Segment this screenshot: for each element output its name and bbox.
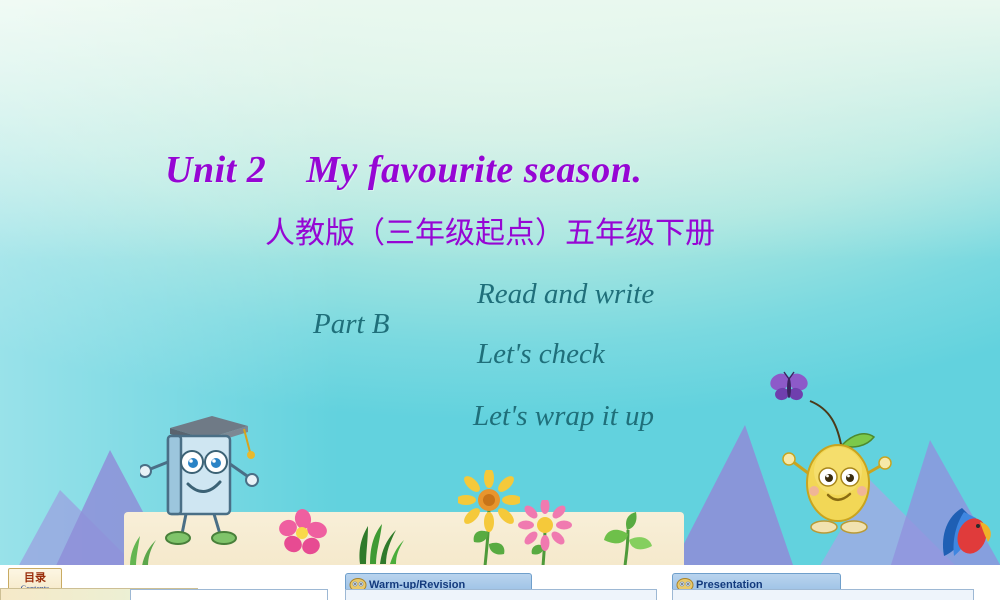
parrot-icon xyxy=(928,500,996,566)
sprout-icon xyxy=(598,512,654,566)
grass-small-icon xyxy=(124,528,164,566)
pink-flower-icon xyxy=(278,508,328,558)
lemon-character xyxy=(780,395,900,545)
sunflower-icon xyxy=(458,470,520,566)
contents-button-cn-label: 目录 xyxy=(24,573,46,584)
daisy-flower-icon xyxy=(518,500,572,566)
part-label: Part B xyxy=(313,308,390,341)
panel-strip-right xyxy=(672,589,974,600)
task-lets-check: Let's check xyxy=(477,338,605,371)
task-lets-wrap-it-up: Let's wrap it up xyxy=(473,400,654,433)
slide-title: Unit 2 My favourite season. xyxy=(165,148,642,192)
presentation-slide: Unit 2 My favourite season. 人教版（三年级起点）五年… xyxy=(0,0,1000,600)
grass-tuft-icon xyxy=(352,518,404,564)
slide-subtitle: 人教版（三年级起点）五年级下册 xyxy=(265,214,785,253)
panel-strip-middle xyxy=(345,589,657,600)
panel-strip-left xyxy=(130,589,328,600)
butterfly-icon xyxy=(768,370,810,406)
task-read-and-write: Read and write xyxy=(477,278,654,311)
